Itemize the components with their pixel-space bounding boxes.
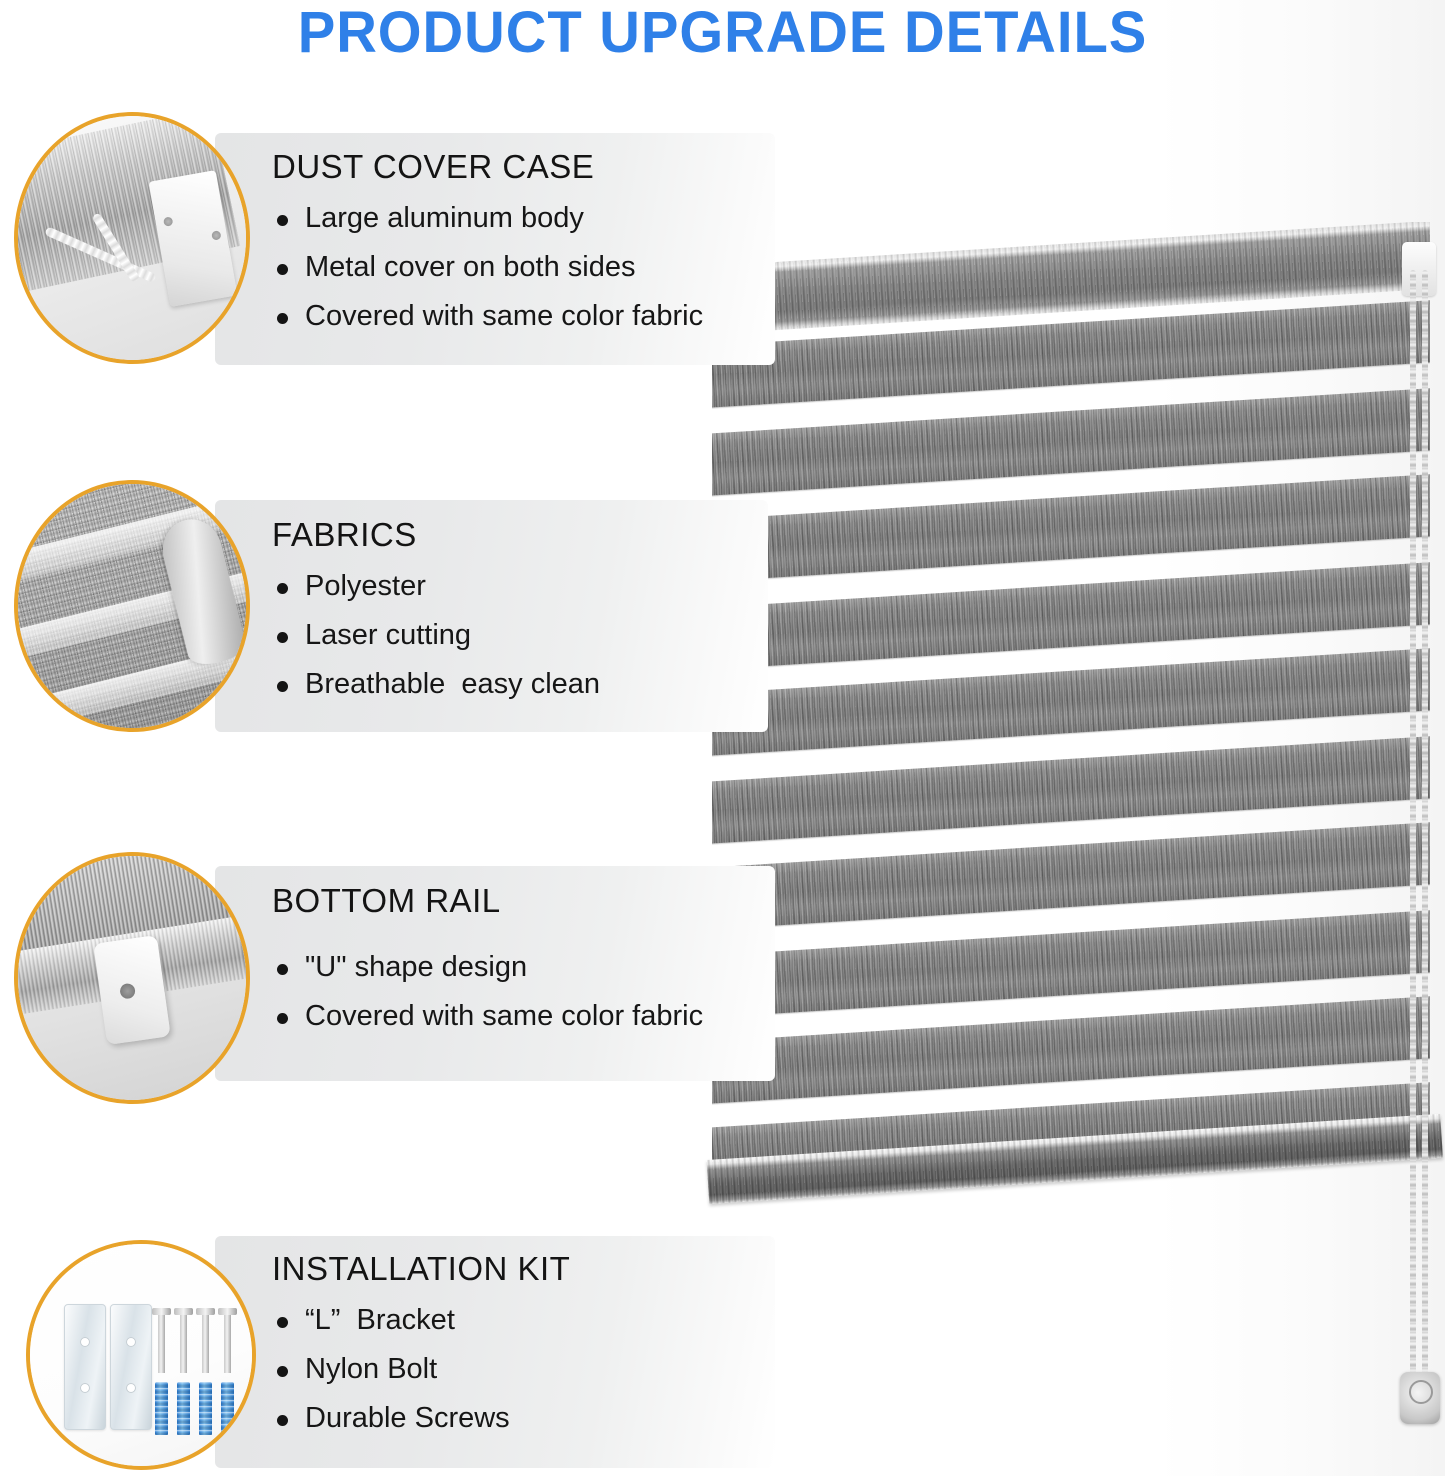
bead-chain-second-strand[interactable] <box>1422 270 1428 1410</box>
screw-icon <box>224 1313 231 1373</box>
feature-bullets-fabrics: Polyester Laser cutting Breathable easy … <box>272 562 752 709</box>
feature-bullets-installation-kit: “L” Bracket Nylon Bolt Durable Screws <box>272 1296 752 1443</box>
screw-icon <box>202 1313 209 1373</box>
bullet-item: “L” Bracket <box>272 1296 752 1345</box>
bullet-item: Breathable easy clean <box>272 660 752 709</box>
wall-anchor-icon <box>155 1382 168 1435</box>
bullet-item: Durable Screws <box>272 1394 752 1443</box>
feature-title-dust-cover-case: DUST COVER CASE <box>272 148 594 186</box>
feature-title-bottom-rail: BOTTOM RAIL <box>272 882 501 920</box>
chain-bracket <box>1402 242 1436 296</box>
bullet-item: "U" shape design <box>272 943 772 992</box>
thumbnail-fabrics <box>14 480 250 732</box>
wall-anchor-icon <box>177 1382 190 1435</box>
feature-title-fabrics: FABRICS <box>272 516 417 554</box>
l-bracket-icon <box>110 1304 152 1430</box>
bullet-item: Laser cutting <box>272 611 752 660</box>
feature-bullets-dust-cover-case: Large aluminum body Metal cover on both … <box>272 194 772 341</box>
l-bracket-icon <box>64 1304 106 1430</box>
thumbnail-installation-kit <box>26 1240 256 1470</box>
product-image-zebra-blind <box>700 222 1445 1287</box>
feature-title-installation-kit: INSTALLATION KIT <box>272 1250 570 1288</box>
bullet-item: Large aluminum body <box>272 194 772 243</box>
bullet-item: Nylon Bolt <box>272 1345 752 1394</box>
wall-anchor-icon <box>221 1382 234 1435</box>
thumbnail-dust-cover-case <box>14 112 250 364</box>
bead-chain[interactable] <box>1410 270 1416 1410</box>
chain-tensioner[interactable] <box>1400 1372 1440 1424</box>
zebra-fabric-photo <box>18 484 246 728</box>
bullet-item: Polyester <box>272 562 752 611</box>
blind-fabric-sheet <box>712 222 1430 1222</box>
bullet-item: Covered with same color fabric <box>272 992 772 1041</box>
bullet-item: Covered with same color fabric <box>272 292 772 341</box>
page-title: PRODUCT UPGRADE DETAILS <box>22 2 1424 64</box>
aluminum-headrail-photo <box>18 116 246 360</box>
screw-icon <box>180 1313 187 1373</box>
bullet-item: Metal cover on both sides <box>272 243 772 292</box>
screw-icon <box>158 1313 165 1373</box>
bottom-rail-endcap-photo <box>18 856 246 1100</box>
thumbnail-bottom-rail <box>14 852 250 1104</box>
feature-bullets-bottom-rail: "U" shape design Covered with same color… <box>272 943 772 1041</box>
wall-anchor-icon <box>199 1382 212 1435</box>
installation-hardware-photo <box>30 1244 252 1466</box>
